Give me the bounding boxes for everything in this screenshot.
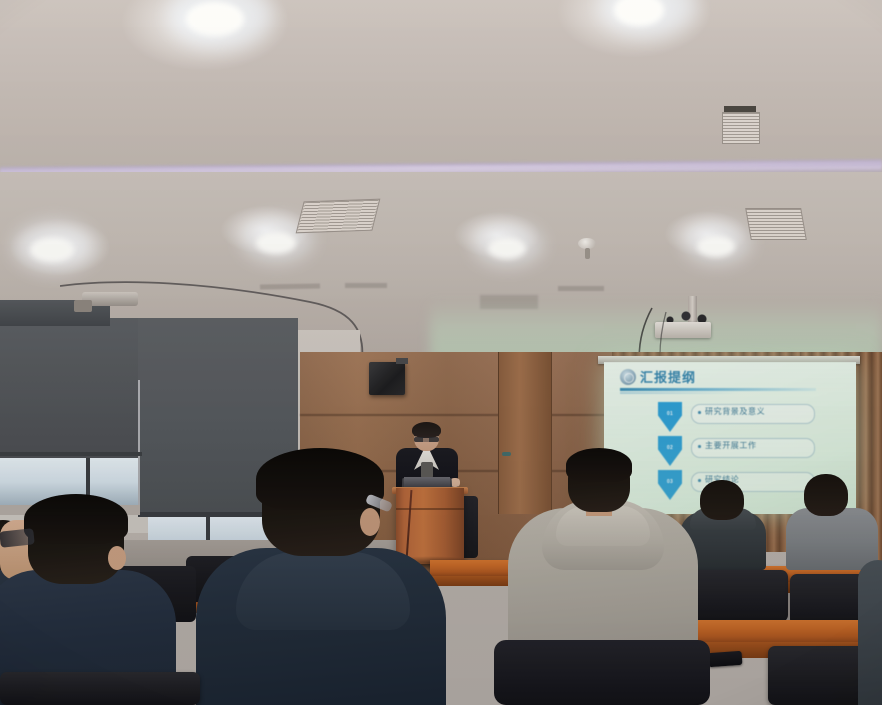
audience-front-center-left-hood [236, 552, 410, 630]
slide-item-bullet-2 [698, 445, 701, 448]
podium-trim [396, 508, 464, 510]
chevron-number-2: 02 [658, 445, 682, 451]
air-vent-icon-1 [722, 112, 760, 144]
ceiling-seam-3 [558, 286, 604, 291]
downlight-icon-4 [256, 232, 296, 254]
audience-back-right-body [786, 508, 878, 570]
audience-right-edge-body [858, 560, 882, 705]
room-door[interactable] [498, 352, 552, 514]
sprinkler-head-icon [585, 248, 590, 259]
audience-front-left-hair [24, 494, 128, 544]
glasses-icon [414, 437, 439, 442]
lecture-room-photo: 汇报提纲 01 研究背景及意义 02 主要开展工作 03 研究结论 [0, 0, 882, 705]
downlight-icon-1 [186, 2, 244, 36]
slide-item-text-1: 研究背景及意义 [705, 406, 765, 417]
slide-title: 汇报提纲 [640, 367, 696, 386]
audience-back-right-head [804, 474, 848, 516]
chevron-marker-icon-3 [658, 470, 682, 500]
slide-list-item: 01 研究背景及意义 [658, 402, 818, 424]
laptop-screen [404, 477, 450, 487]
air-vent-icon-2 [296, 199, 381, 234]
wall-speaker [369, 362, 405, 395]
chair-front-left[interactable] [0, 672, 200, 705]
slide-item-text-2: 主要开展工作 [705, 440, 757, 451]
air-vent-icon-3 [745, 208, 807, 240]
door-handle[interactable] [502, 452, 511, 456]
smartphone-on-desk[interactable] [708, 651, 743, 667]
slide-item-bullet-3 [698, 479, 701, 482]
chair-front-center[interactable] [494, 640, 710, 705]
ceiling-upper [0, 0, 882, 172]
downlight-icon-3 [30, 238, 74, 262]
university-emblem-icon [620, 369, 636, 385]
audience-front-center-left-hair [256, 448, 384, 510]
audience-back-center-head [700, 480, 744, 520]
downlight-icon-5 [488, 238, 526, 259]
slide-list-item: 02 主要开展工作 [658, 436, 818, 458]
audience-front-center-left-ear [360, 508, 380, 536]
ceiling-mounted-bracket [74, 300, 92, 312]
wood-panel-seam-1 [300, 414, 620, 416]
slide-title-underline [620, 388, 816, 391]
chevron-marker-icon-2 [658, 436, 682, 466]
presenter-shirt [421, 462, 433, 478]
speaker-mount-bracket [396, 358, 408, 364]
presenter-hair [412, 422, 441, 438]
air-vent-shadow-1 [724, 106, 756, 112]
audience-front-left-ear [108, 546, 126, 570]
audience-front-center-hair [566, 448, 632, 482]
slide-title-underline-secondary [620, 392, 740, 394]
chevron-marker-icon-1 [658, 402, 682, 432]
downlight-icon-6 [697, 236, 735, 257]
slide-item-bullet-1 [698, 411, 701, 414]
roller-blind-edge [138, 380, 140, 516]
roller-blind-bottom-bar-left[interactable] [0, 452, 142, 456]
chevron-number-1: 01 [658, 411, 682, 417]
chevron-number-3: 03 [658, 479, 682, 485]
